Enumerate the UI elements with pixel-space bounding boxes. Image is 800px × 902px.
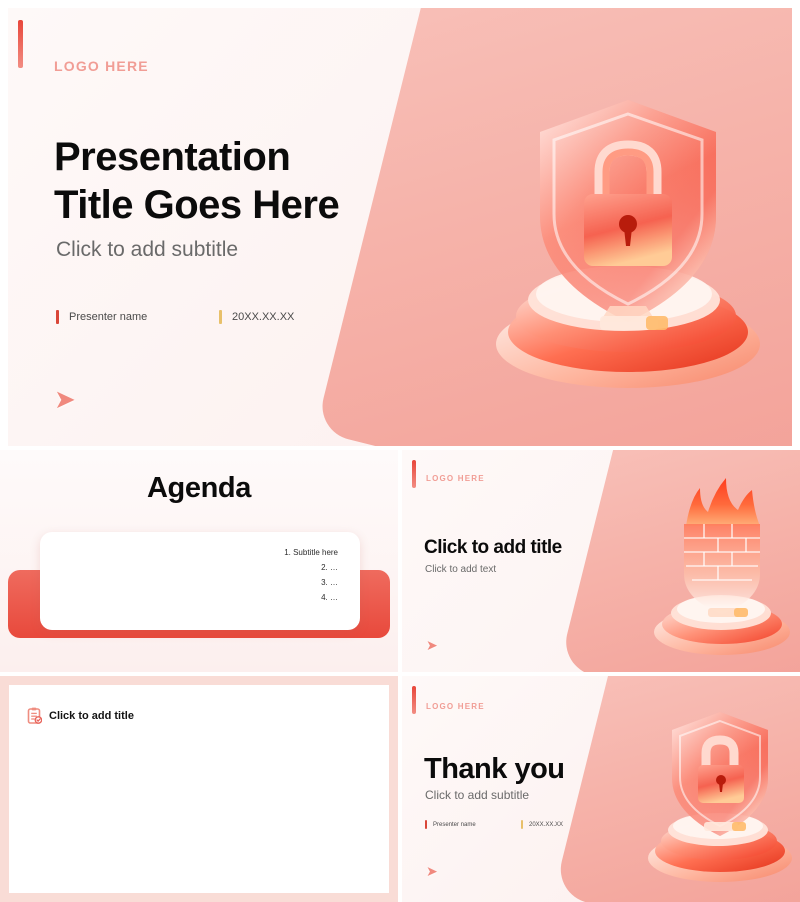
agenda-title[interactable]: Agenda <box>139 472 259 505</box>
date-meta[interactable]: 20XX.XX.XX <box>521 820 563 829</box>
date-meta[interactable]: 20XX.XX.XX <box>219 310 294 324</box>
presenter-name: Presenter name <box>69 311 219 323</box>
accent-bar <box>18 20 23 68</box>
slide-agenda[interactable]: Agenda 1. Subtitle here 2. … 3. … 4. … <box>0 450 398 672</box>
firewall-flame-illustration <box>642 466 800 666</box>
accent-bar <box>412 686 416 714</box>
next-arrow-icon[interactable]: ➤ <box>426 864 438 878</box>
thanks-headline[interactable]: Thank you <box>424 754 565 785</box>
slide-firewall[interactable]: LOGO HERE Click to add title Click to ad… <box>402 450 800 672</box>
slide-deck-preview: LOGO HERE Presentation Title Goes Here C… <box>0 0 800 902</box>
thanks-subtitle[interactable]: Click to add subtitle <box>425 788 529 802</box>
agenda-card[interactable]: 1. Subtitle here 2. … 3. … 4. … <box>40 532 360 630</box>
next-arrow-icon[interactable]: ➤ <box>54 386 76 412</box>
shield-lock-illustration <box>460 48 790 418</box>
firewall-headline[interactable]: Click to add title <box>424 538 562 559</box>
content-title-row: Click to add title <box>27 707 134 724</box>
presenter-meta[interactable]: Presenter name <box>56 310 219 324</box>
date-tick-icon <box>219 310 222 324</box>
thanks-meta-row: Presenter name 20XX.XX.XX <box>425 820 563 829</box>
title-headline-line1[interactable]: Presentation <box>54 136 290 179</box>
presenter-tick-icon <box>425 820 427 829</box>
agenda-title-wrap: Agenda <box>0 472 398 505</box>
presenter-name: Presenter name <box>433 822 521 828</box>
presentation-date: 20XX.XX.XX <box>232 311 294 323</box>
content-title[interactable]: Click to add title <box>49 710 134 722</box>
list-item[interactable]: 3. … <box>40 575 338 590</box>
date-tick-icon <box>521 820 523 829</box>
slide-content[interactable]: Click to add title <box>0 676 398 902</box>
firewall-subtitle[interactable]: Click to add text <box>425 564 496 575</box>
title-headline-line2[interactable]: Title Goes Here <box>54 184 339 227</box>
next-arrow-icon[interactable]: ➤ <box>426 638 438 652</box>
logo-placeholder[interactable]: LOGO HERE <box>426 474 485 483</box>
title-meta-row: Presenter name 20XX.XX.XX <box>56 310 294 324</box>
logo-placeholder[interactable]: LOGO HERE <box>54 58 149 74</box>
clipboard-check-icon <box>27 707 42 724</box>
presenter-meta[interactable]: Presenter name <box>425 820 521 829</box>
list-item[interactable]: 1. Subtitle here <box>40 545 338 560</box>
list-item[interactable]: 4. … <box>40 590 338 605</box>
presenter-tick-icon <box>56 310 59 324</box>
logo-placeholder[interactable]: LOGO HERE <box>426 702 485 711</box>
slide-thank-you[interactable]: LOGO HERE Thank you Click to add subtitl… <box>402 676 800 902</box>
title-subtitle[interactable]: Click to add subtitle <box>56 238 238 262</box>
content-inner-panel[interactable]: Click to add title <box>9 685 389 893</box>
accent-bar <box>412 460 416 488</box>
agenda-list: 1. Subtitle here 2. … 3. … 4. … <box>40 545 338 605</box>
agenda-title-text: Agenda <box>147 472 251 504</box>
slide-title[interactable]: LOGO HERE Presentation Title Goes Here C… <box>8 8 792 446</box>
presentation-date: 20XX.XX.XX <box>529 822 563 828</box>
shield-lock-illustration <box>634 690 800 890</box>
list-item[interactable]: 2. … <box>40 560 338 575</box>
